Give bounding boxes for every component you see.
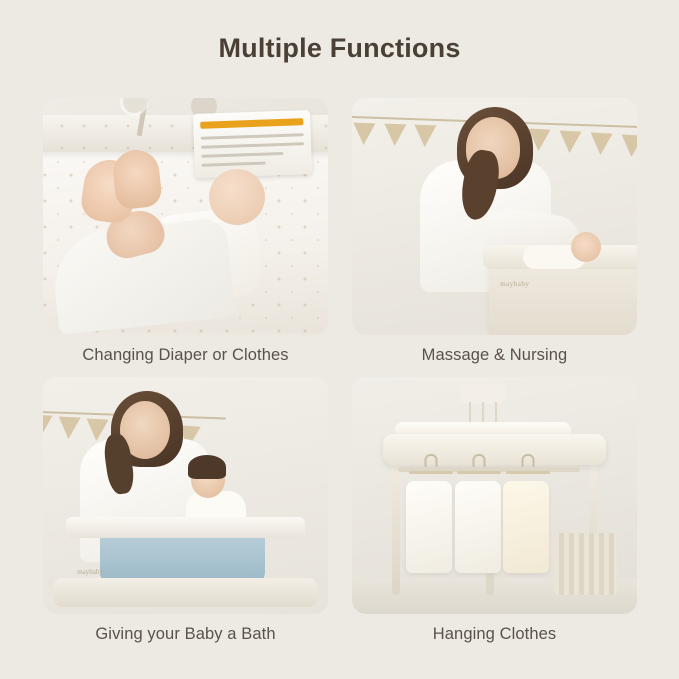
changing-table-base xyxy=(54,578,316,606)
warning-label-line xyxy=(201,133,304,140)
warning-label-line xyxy=(201,142,304,149)
bunting-flag xyxy=(414,125,437,148)
photo-hanging-clothes xyxy=(352,377,637,614)
feature-cell-hanging-clothes: Hanging Clothes xyxy=(352,377,637,644)
mobile-toy-icon xyxy=(460,384,506,404)
warning-label-line xyxy=(201,152,283,158)
product-feature-panel: Multiple Functions xyxy=(0,0,679,679)
tub-support-rim xyxy=(66,517,305,538)
bunting-flag xyxy=(85,418,108,441)
mobile-string xyxy=(469,402,471,424)
photo-massage-nursing: maybaby xyxy=(352,98,637,335)
baby-head xyxy=(209,169,265,225)
hanger-hook-icon xyxy=(473,454,486,467)
bunting-flag xyxy=(57,417,80,440)
photo-baby-bath: maybaby xyxy=(43,377,328,614)
brand-logo: maybaby xyxy=(500,280,529,288)
caption-hanging-clothes: Hanging Clothes xyxy=(352,625,637,644)
bunting-flag xyxy=(353,122,376,145)
hanging-garment xyxy=(406,481,452,573)
feature-cell-baby-bath: maybaby Giving your Baby a Bath xyxy=(43,377,328,644)
caption-massage-nursing: Massage & Nursing xyxy=(352,346,637,365)
brand-logo: maybaby xyxy=(77,568,103,576)
hanger-bar xyxy=(506,471,550,474)
page-title: Multiple Functions xyxy=(0,0,679,64)
warning-label-line xyxy=(202,162,266,167)
caption-baby-bath: Giving your Baby a Bath xyxy=(43,625,328,644)
photo-changing-diaper xyxy=(43,98,328,335)
bunting-flag xyxy=(43,415,52,438)
hanging-garment xyxy=(455,481,501,573)
hanger-hook-icon xyxy=(425,454,438,467)
bunting-flag xyxy=(620,134,637,157)
bunting-flag xyxy=(559,131,582,154)
bunting-flag xyxy=(383,124,406,147)
hanger-hook-icon xyxy=(521,454,534,467)
hanger-bar xyxy=(457,471,501,474)
feature-cell-massage-nursing: maybaby Massage & Nursing xyxy=(352,98,637,365)
baby-hair xyxy=(188,455,226,479)
hanger-bar xyxy=(409,471,453,474)
warning-label xyxy=(193,110,312,178)
warning-label-bar xyxy=(200,118,303,129)
table-top xyxy=(383,434,605,465)
baby-head xyxy=(571,232,601,262)
feature-cell-changing-diaper: Changing Diaper or Clothes xyxy=(43,98,328,365)
mobile-string xyxy=(495,402,497,424)
feature-grid: Changing Diaper or Clothes xyxy=(43,98,637,644)
bunting-flag xyxy=(589,133,612,156)
caption-changing-diaper: Changing Diaper or Clothes xyxy=(43,346,328,365)
storage-basket xyxy=(554,533,617,595)
hanging-garment xyxy=(503,481,549,573)
